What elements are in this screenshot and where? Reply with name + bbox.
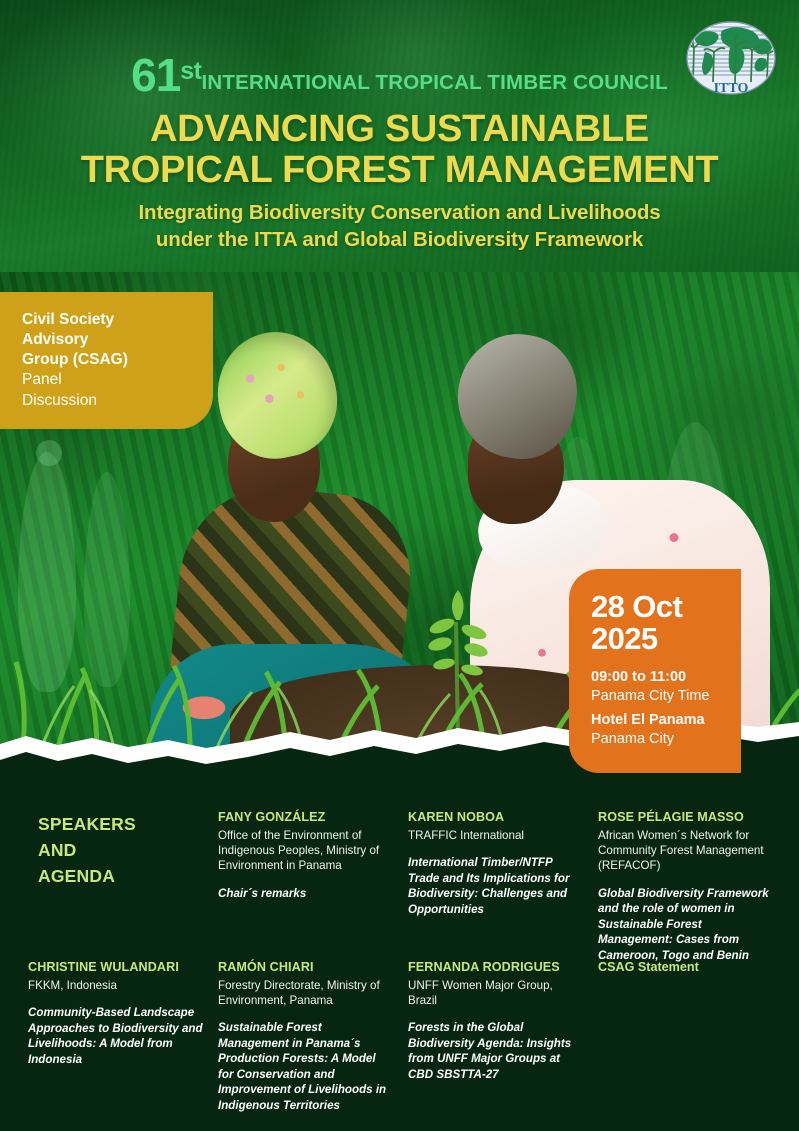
speaker-topic: Community-Based Landscape Approaches to …: [28, 1005, 204, 1067]
council-heading: 61stINTERNATIONAL TROPICAL TIMBER COUNCI…: [0, 52, 799, 98]
speaker-organization: TRAFFIC International: [408, 828, 584, 843]
speaker-organization: Forestry Directorate, Ministry of Enviro…: [218, 978, 394, 1009]
csag-statement-label: CSAG Statement: [598, 960, 774, 976]
speaker-card: KAREN NOBOA TRAFFIC International Intern…: [408, 810, 598, 963]
badge-line-2: Advisory: [22, 330, 193, 350]
event-city: Panama City: [591, 730, 721, 749]
badge-line-4: Panel: [22, 370, 193, 390]
speaker-topic: Forests in the Global Biodiversity Agend…: [408, 1020, 584, 1082]
badge-line-3: Group (CSAG): [22, 350, 193, 370]
badge-line-1: Civil Society: [22, 310, 193, 330]
event-timezone: Panama City Time: [591, 687, 721, 706]
speaker-name: FANY GONZÁLEZ: [218, 810, 394, 826]
speaker-card: RAMÓN CHIARI Forestry Directorate, Minis…: [218, 960, 408, 1114]
itto-logo-icon: ITTO: [685, 18, 777, 106]
speaker-organization: FKKM, Indonesia: [28, 978, 204, 993]
badge-line-5: Discussion: [22, 391, 193, 411]
title-line-2: TROPICAL FOREST MANAGEMENT: [0, 150, 799, 191]
speaker-topic: Sustainable Forest Management in Panama´…: [218, 1020, 394, 1113]
subtitle-line-1: Integrating Biodiversity Conservation an…: [0, 200, 799, 226]
event-venue: Hotel El Panama: [591, 712, 721, 730]
subtitle-line-2: under the ITTA and Global Biodiversity F…: [0, 227, 799, 253]
csag-statement-item: CSAG Statement: [598, 960, 788, 1114]
event-time: 09:00 to 11:00: [591, 669, 721, 687]
speaker-name: ROSE PÉLAGIE MASSO: [598, 810, 774, 826]
speaker-organization: UNFF Women Major Group, Brazil: [408, 978, 584, 1009]
date-line-1: 28 Oct: [591, 591, 721, 623]
title-line-1: ADVANCING SUSTAINABLE: [0, 109, 799, 150]
speaker-topic: Chair´s remarks: [218, 886, 394, 902]
poster-header: 61stINTERNATIONAL TROPICAL TIMBER COUNCI…: [0, 0, 799, 272]
council-name: INTERNATIONAL TROPICAL TIMBER COUNCIL: [202, 71, 668, 94]
speakers-agenda-panel: SPEAKERS AND AGENDA FANY GONZÁLEZ Office…: [0, 770, 799, 1131]
speaker-card: ROSE PÉLAGIE MASSO African Women´s Netwo…: [598, 810, 788, 963]
speakers-row-1: FANY GONZÁLEZ Office of the Environment …: [0, 810, 799, 963]
speaker-card: CHRISTINE WULANDARI FKKM, Indonesia Comm…: [28, 960, 218, 1114]
speaker-card: FERNANDA RODRIGUES UNFF Women Major Grou…: [408, 960, 598, 1114]
speaker-topic: Global Biodiversity Framework and the ro…: [598, 886, 774, 964]
csag-badge: Civil Society Advisory Group (CSAG) Pane…: [0, 292, 213, 429]
speakers-row-2: CHRISTINE WULANDARI FKKM, Indonesia Comm…: [0, 960, 799, 1114]
edition-suffix: st: [180, 57, 201, 85]
page-subtitle: Integrating Biodiversity Conservation an…: [0, 200, 799, 252]
speaker-name: RAMÓN CHIARI: [218, 960, 394, 976]
edition-number: 61: [131, 49, 180, 101]
speaker-organization: African Women´s Network for Community Fo…: [598, 828, 774, 874]
speaker-card: FANY GONZÁLEZ Office of the Environment …: [218, 810, 408, 963]
date-block: 28 Oct 2025 09:00 to 11:00 Panama City T…: [569, 569, 741, 773]
event-poster: 61stINTERNATIONAL TROPICAL TIMBER COUNCI…: [0, 0, 799, 1131]
speaker-organization: Office of the Environment of Indigenous …: [218, 828, 394, 874]
date-line-2: 2025: [591, 623, 721, 655]
page-title: ADVANCING SUSTAINABLE TROPICAL FOREST MA…: [0, 109, 799, 190]
speaker-name: KAREN NOBOA: [408, 810, 584, 826]
speaker-topic: International Timber/NTFP Trade and Its …: [408, 855, 584, 917]
speaker-name: FERNANDA RODRIGUES: [408, 960, 584, 976]
speaker-name: CHRISTINE WULANDARI: [28, 960, 204, 976]
itto-logo-text: ITTO: [714, 81, 749, 96]
